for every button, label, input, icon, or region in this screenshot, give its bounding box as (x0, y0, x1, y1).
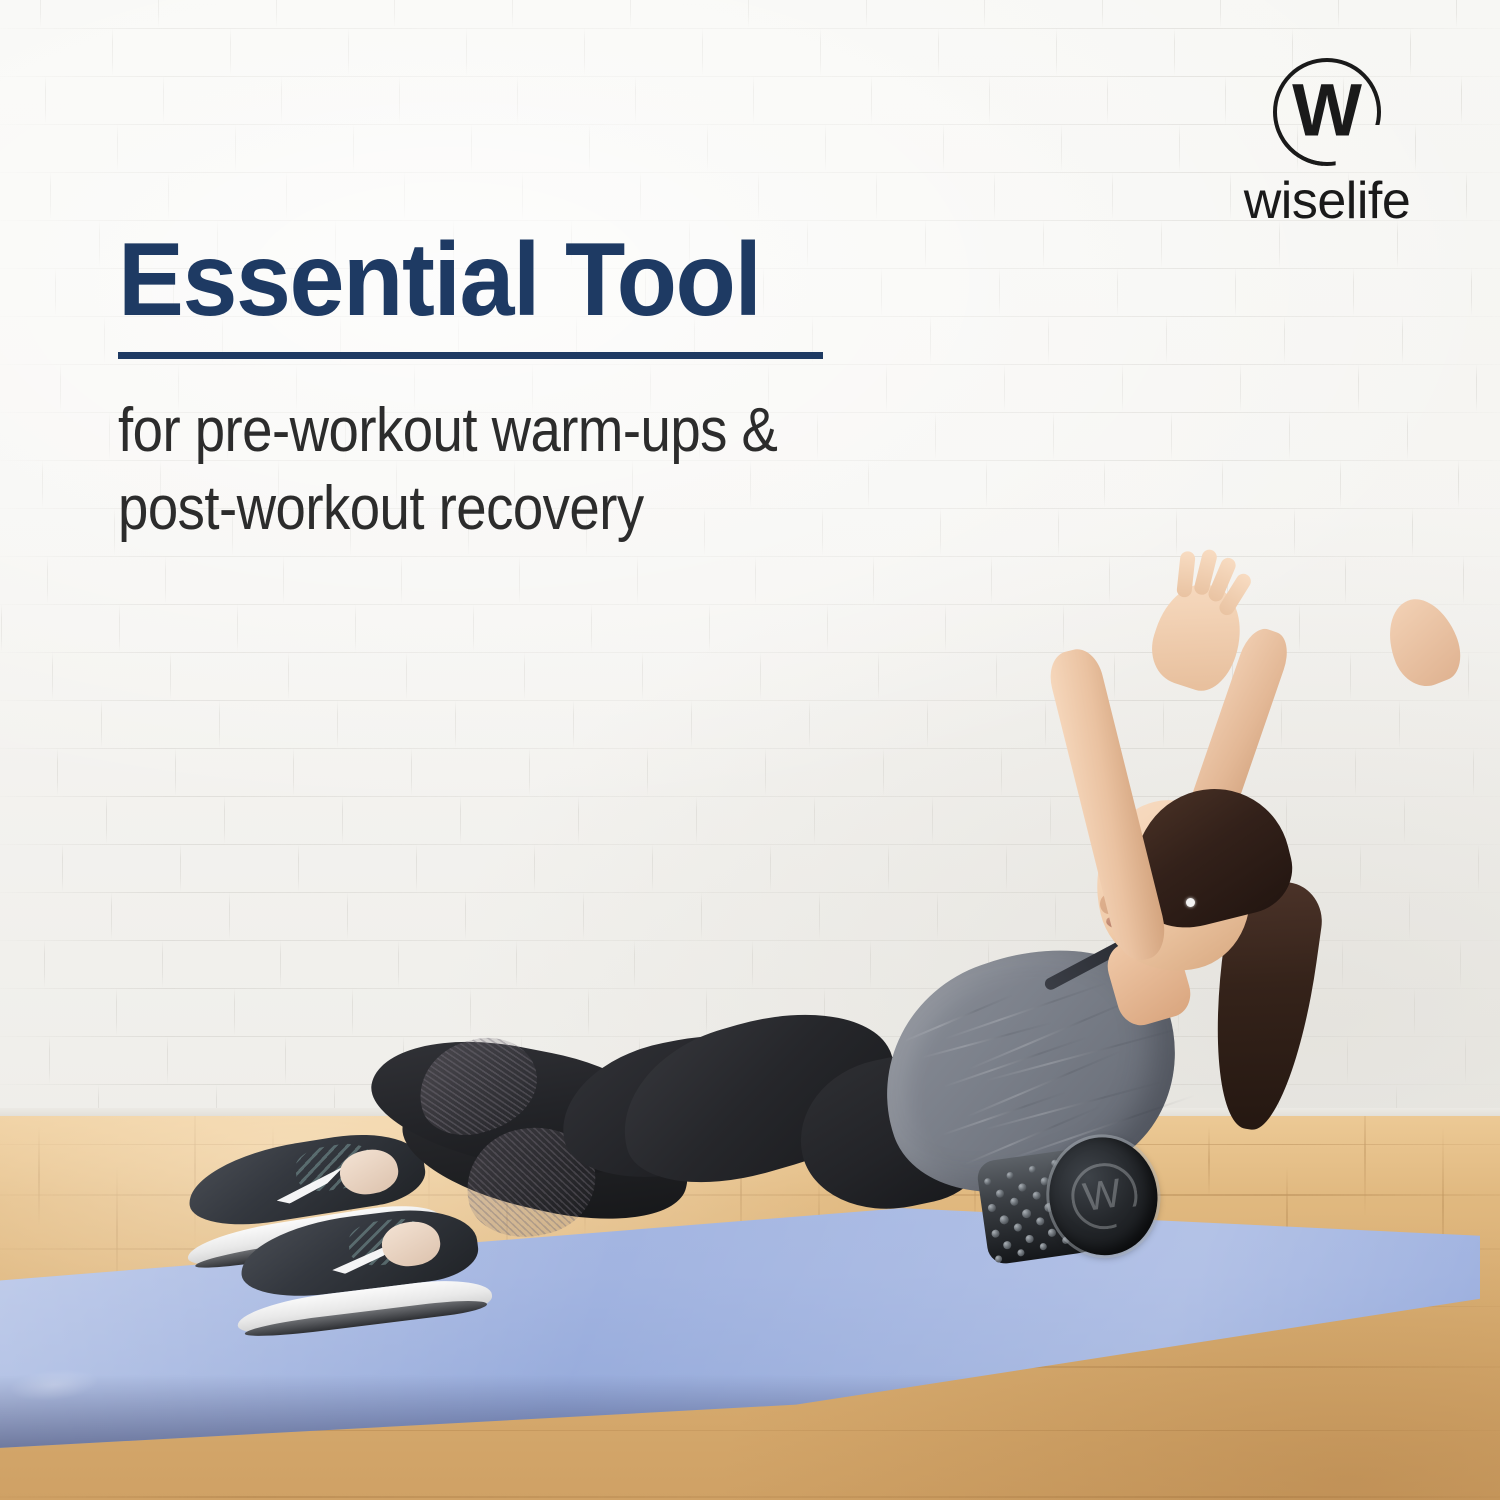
finger (1176, 551, 1196, 598)
subtitle-line-1: for pre-workout warm-ups & (118, 393, 963, 469)
promo-text-block: Essential Tool for pre-workout warm-ups … (118, 228, 1078, 547)
hand-far (1376, 589, 1470, 695)
brand-logo: W wiselife (1212, 58, 1442, 228)
brand-name: wiselife (1212, 174, 1442, 228)
promo-banner: W Essential Tool for pre-workout warm-up… (0, 0, 1500, 1500)
foam-roller: W (974, 1130, 1165, 1275)
title-underline (118, 352, 823, 359)
foam-roller-w-logo-icon: W (1067, 1159, 1142, 1234)
earring-icon (1186, 898, 1195, 907)
page-title: Essential Tool (118, 228, 1030, 332)
wiselife-mark-icon: W (1273, 58, 1381, 166)
logo-letter-w: W (1292, 74, 1362, 148)
subtitle-line-2: post-workout recovery (118, 471, 963, 547)
